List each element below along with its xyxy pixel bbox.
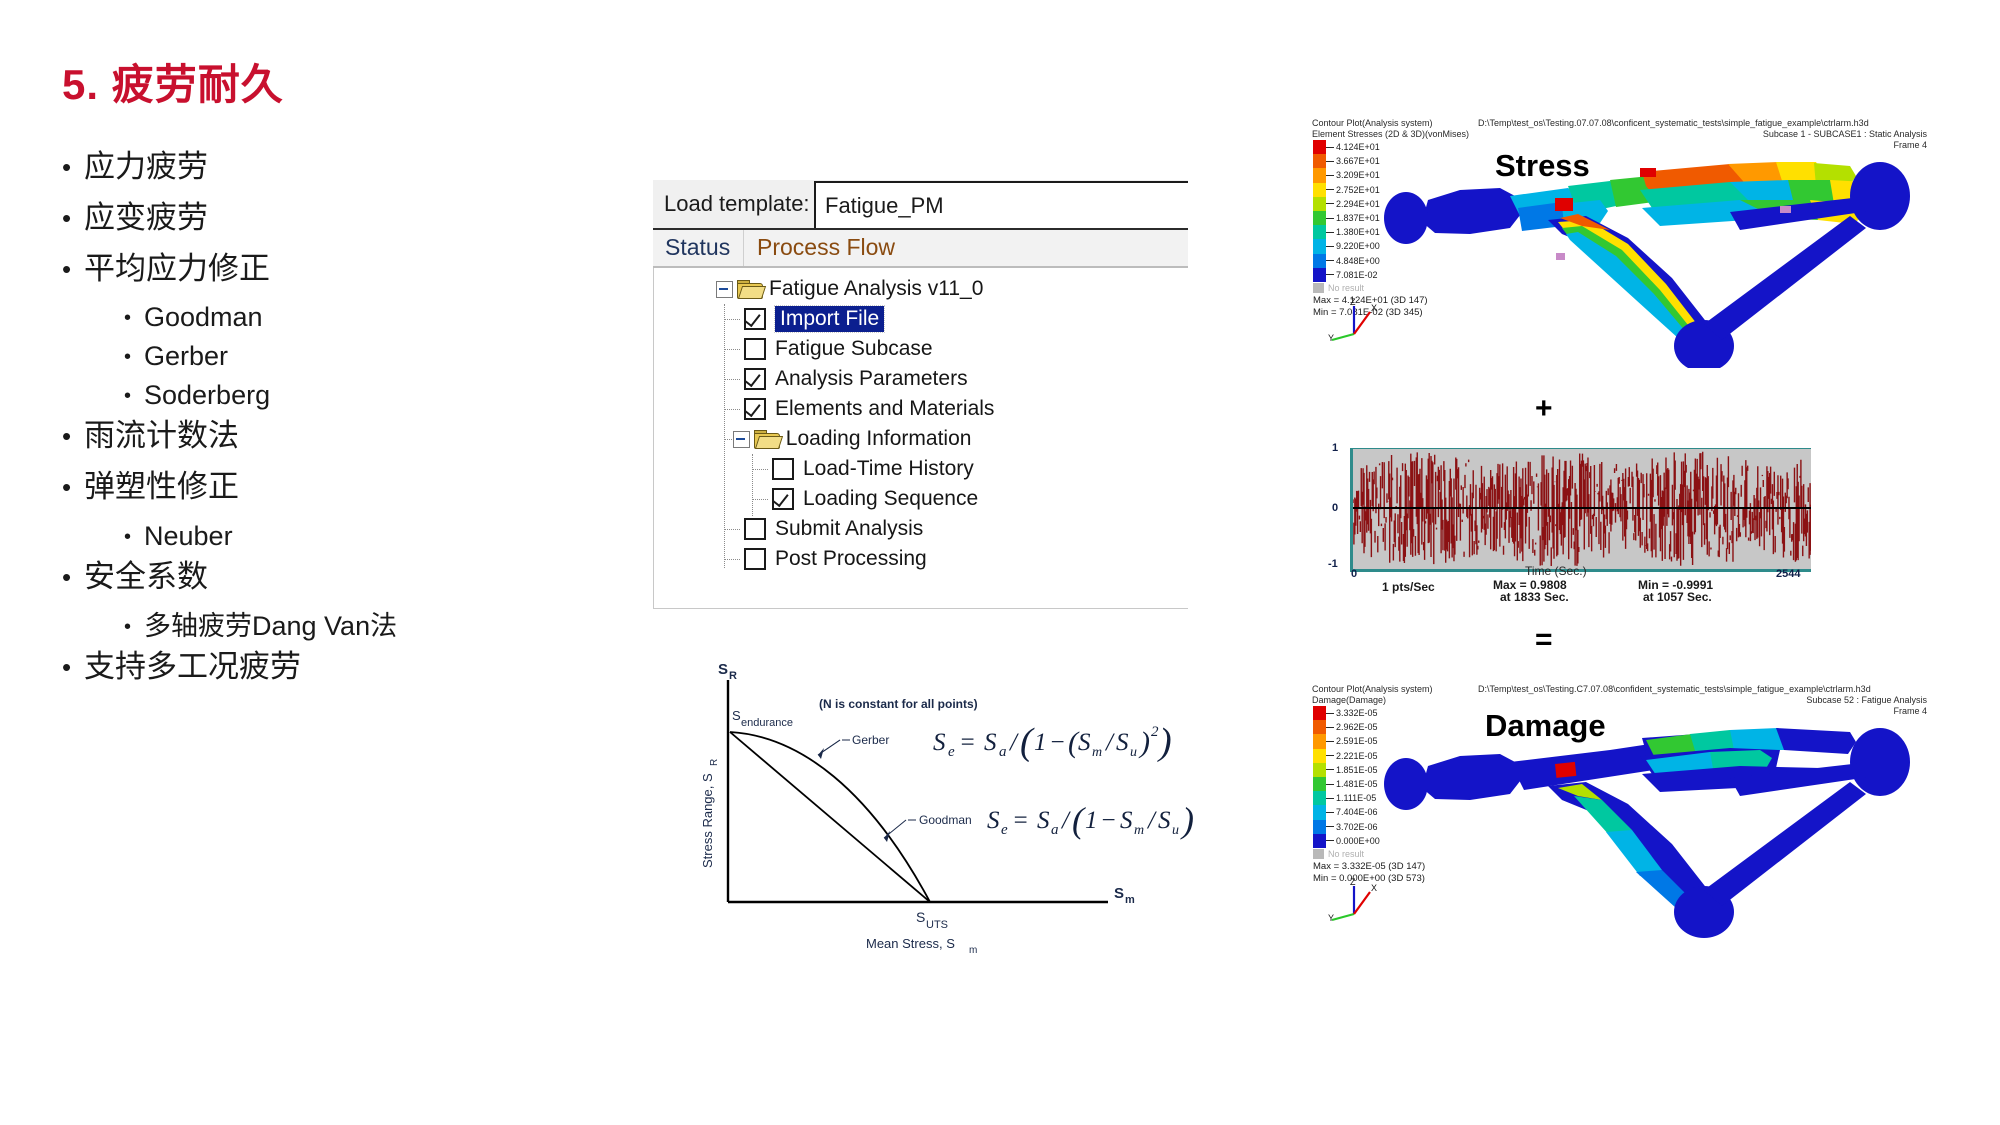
folder-open-icon xyxy=(737,280,762,299)
load-template-input[interactable]: Fatigue_PM xyxy=(814,181,1188,228)
svg-text:S: S xyxy=(933,729,946,756)
checkbox-unchecked-icon[interactable] xyxy=(744,338,766,360)
tree-connector xyxy=(752,469,768,470)
bullet-item: •雨流计数法 xyxy=(62,419,622,454)
uts-label: S xyxy=(916,909,925,925)
tree-item[interactable]: Post Processing xyxy=(744,544,927,574)
bullet-text: 安全系数 xyxy=(84,560,208,595)
tree-item[interactable]: Import File xyxy=(744,304,884,334)
svg-text:u: u xyxy=(1172,823,1179,838)
svg-text:Z: Z xyxy=(1350,297,1356,307)
tree-item-label: Import File xyxy=(775,306,884,332)
svg-text:/: / xyxy=(1008,729,1019,756)
svg-text:u: u xyxy=(1130,745,1137,760)
svg-text:X: X xyxy=(1371,303,1377,313)
bullet-item: •多轴疲劳Dang Van法 xyxy=(62,611,622,642)
tree-connector xyxy=(752,454,753,516)
svg-text:/: / xyxy=(1104,729,1115,756)
bullet-dot-icon: • xyxy=(62,419,84,449)
bullet-text: 弹塑性修正 xyxy=(84,470,239,505)
bullet-dot-icon: • xyxy=(124,521,144,547)
checkbox-checked-icon[interactable] xyxy=(744,308,766,330)
tree-item[interactable]: Analysis Parameters xyxy=(744,364,968,394)
th-x-right: 2544 xyxy=(1776,568,1800,580)
x-axis-symbol: S xyxy=(1114,885,1124,902)
bullet-dot-icon: • xyxy=(62,201,84,231)
endurance-label: S xyxy=(732,708,741,723)
svg-text:S: S xyxy=(1078,729,1091,756)
goodman-diagram-svg: S R S endurance (N is constant for all p… xyxy=(690,650,1270,970)
tree-item-label: Fatigue Subcase xyxy=(775,337,933,361)
bullet-item: •平均应力修正 xyxy=(62,252,622,287)
th-signal xyxy=(1353,449,1811,569)
y-axis-symbol-sub: R xyxy=(729,670,737,682)
checkbox-checked-icon[interactable] xyxy=(744,368,766,390)
bullet-dot-icon: • xyxy=(62,252,84,282)
column-header-status: Status xyxy=(653,230,744,266)
bullet-text: Gerber xyxy=(144,341,228,372)
bullet-item: •安全系数 xyxy=(62,560,622,595)
svg-text:/: / xyxy=(1060,807,1071,834)
slide-left-column: 5. 疲劳耐久 •应力疲劳•应变疲劳•平均应力修正•Goodman•Gerber… xyxy=(62,62,622,700)
load-time-history-chart: 1 0 -1 0 Time (Sec.) 2544 1 pts/Sec Max … xyxy=(1310,440,1825,595)
stress-contour-plot: Contour Plot(Analysis system) Element St… xyxy=(1310,118,1930,368)
tree-connector xyxy=(724,349,740,350)
bullet-dot-icon: • xyxy=(62,650,84,680)
tree-item[interactable]: Fatigue Analysis v11_0 xyxy=(716,274,983,304)
x-axis-symbol-sub: m xyxy=(1125,894,1135,906)
tree-connector xyxy=(724,439,732,440)
bullet-text: Neuber xyxy=(144,521,233,552)
bullet-item: •弹塑性修正 xyxy=(62,470,622,505)
bullet-dot-icon: • xyxy=(62,150,84,180)
svg-text:S: S xyxy=(1037,807,1050,834)
svg-text:): ) xyxy=(1157,721,1172,763)
goodman-curve-label: Goodman xyxy=(919,813,972,827)
gerber-curve-label: Gerber xyxy=(852,733,889,747)
bullet-item: •Goodman xyxy=(62,302,622,333)
th-max-at: at 1833 Sec. xyxy=(1500,590,1569,604)
th-y-mid: 0 xyxy=(1332,502,1338,514)
plus-operator: + xyxy=(1535,392,1553,426)
tree-item-label: Elements and Materials xyxy=(775,397,994,421)
bullet-dot-icon: • xyxy=(124,611,144,637)
th-y-bottom: -1 xyxy=(1328,558,1338,570)
svg-text:(: ( xyxy=(1020,721,1035,763)
tree-item[interactable]: Fatigue Subcase xyxy=(744,334,933,364)
endurance-label-sub: endurance xyxy=(741,717,793,729)
svg-text:a: a xyxy=(999,744,1007,760)
tree-item-label: Post Processing xyxy=(775,547,927,571)
svg-text:2: 2 xyxy=(1151,724,1159,740)
tree-item-label: Loading Sequence xyxy=(803,487,978,511)
bullet-item: •Gerber xyxy=(62,341,622,372)
tree-item[interactable]: Loading Sequence xyxy=(772,484,978,514)
y-axis-title-sub: R xyxy=(709,759,720,766)
svg-text:/: / xyxy=(1146,807,1157,834)
tree-connector xyxy=(724,559,740,560)
bullet-dot-icon: • xyxy=(124,380,144,406)
tree-connector xyxy=(724,319,740,320)
th-zero-line xyxy=(1353,507,1811,509)
x-axis-title: Mean Stress, S xyxy=(866,936,955,951)
tree-item-label: Fatigue Analysis v11_0 xyxy=(769,277,983,301)
tree-item-label: Submit Analysis xyxy=(775,517,923,541)
svg-text:e: e xyxy=(1001,822,1008,838)
svg-text:S: S xyxy=(984,729,997,756)
load-template-label: Load template: xyxy=(653,180,814,228)
bullet-item: •Soderberg xyxy=(62,380,622,411)
th-plot-area xyxy=(1350,448,1811,572)
th-y-top: 1 xyxy=(1332,442,1338,454)
svg-text:−: − xyxy=(1049,729,1066,756)
expander-minus-icon[interactable] xyxy=(733,431,750,448)
bullet-text: Goodman xyxy=(144,302,263,333)
y-axis-symbol: S xyxy=(718,661,728,678)
goodman-gerber-diagram: S R S endurance (N is constant for all p… xyxy=(690,650,1270,970)
svg-text:m: m xyxy=(1092,745,1102,760)
page-title: 5. 疲劳耐久 xyxy=(62,62,622,108)
th-min-at: at 1057 Sec. xyxy=(1643,590,1712,604)
svg-text:1: 1 xyxy=(1085,807,1098,834)
y-axis-title: Stress Range, S xyxy=(700,773,715,868)
load-template-row: Load template: Fatigue_PM xyxy=(653,180,1188,230)
tree-item[interactable]: Elements and Materials xyxy=(744,394,994,424)
tree-item[interactable]: Load-Time History xyxy=(772,454,974,484)
process-flow-header: Status Process Flow xyxy=(653,230,1188,268)
svg-text:=: = xyxy=(1012,807,1029,834)
th-x-title: Time (Sec.) xyxy=(1525,564,1587,578)
bullet-text: 平均应力修正 xyxy=(84,252,270,287)
tree-connector xyxy=(724,529,740,530)
bullet-text: Soderberg xyxy=(144,380,270,411)
bullet-text: 应力疲劳 xyxy=(84,150,208,185)
damage-3d-model xyxy=(1310,684,1930,954)
process-flow-tree[interactable]: Fatigue Analysis v11_0Import FileFatigue… xyxy=(653,268,1188,609)
column-header-process-flow: Process Flow xyxy=(744,230,895,266)
svg-text:S: S xyxy=(1158,807,1171,834)
equals-operator: = xyxy=(1535,623,1553,657)
svg-text:m: m xyxy=(1134,823,1144,838)
bullet-list: •应力疲劳•应变疲劳•平均应力修正•Goodman•Gerber•Soderbe… xyxy=(62,150,622,684)
svg-text:S: S xyxy=(1116,729,1129,756)
chart-note: (N is constant for all points) xyxy=(819,697,978,711)
svg-text:(: ( xyxy=(1072,800,1086,840)
bullet-dot-icon: • xyxy=(124,341,144,367)
svg-text:=: = xyxy=(959,729,976,756)
gerber-formula: S e = S a / ( 1 − ( S m / S u ) 2 ) xyxy=(933,721,1172,763)
process-flow-panel: Load template: Fatigue_PM Status Process… xyxy=(653,180,1188,605)
tree-item-label: Loading Information xyxy=(786,427,972,451)
tree-item[interactable]: Loading Information xyxy=(733,424,972,454)
x-axis-title-sub: m xyxy=(969,945,977,956)
expander-minus-icon[interactable] xyxy=(716,281,733,298)
checkbox-checked-icon[interactable] xyxy=(772,488,794,510)
checkbox-unchecked-icon[interactable] xyxy=(772,458,794,480)
svg-text:e: e xyxy=(948,744,955,760)
folder-open-icon xyxy=(754,430,779,449)
goodman-formula: S e = S a / ( 1 − S m / S u ) xyxy=(987,800,1194,840)
stress-3d-model xyxy=(1310,118,1930,368)
svg-text:S: S xyxy=(1120,807,1133,834)
tree-connector xyxy=(724,409,740,410)
svg-text:a: a xyxy=(1051,822,1059,838)
bullet-item: •应力疲劳 xyxy=(62,150,622,185)
svg-text:): ) xyxy=(1180,800,1194,840)
tree-item-label: Analysis Parameters xyxy=(775,367,968,391)
tree-connector xyxy=(724,379,740,380)
svg-text:Y: Y xyxy=(1328,333,1334,342)
svg-text:−: − xyxy=(1100,807,1117,834)
bullet-text: 支持多工况疲劳 xyxy=(84,650,301,685)
svg-text:S: S xyxy=(987,807,1000,834)
bullet-item: •应变疲劳 xyxy=(62,201,622,236)
svg-text:Y: Y xyxy=(1328,913,1334,922)
tree-item[interactable]: Submit Analysis xyxy=(744,514,923,544)
th-x-left: 0 xyxy=(1351,568,1357,580)
th-rate-label: 1 pts/Sec xyxy=(1382,580,1435,594)
svg-text:Z: Z xyxy=(1350,877,1356,887)
bullet-item: •支持多工况疲劳 xyxy=(62,650,622,685)
damage-axis-triad-icon: Z Y X xyxy=(1328,874,1386,922)
checkbox-unchecked-icon[interactable] xyxy=(744,548,766,570)
tree-item-label: Load-Time History xyxy=(803,457,974,481)
bullet-dot-icon: • xyxy=(62,470,84,500)
uts-label-sub: UTS xyxy=(926,919,948,931)
svg-text:): ) xyxy=(1138,726,1150,759)
svg-text:X: X xyxy=(1371,883,1377,893)
bullet-dot-icon: • xyxy=(124,302,144,328)
bullet-text: 应变疲劳 xyxy=(84,201,208,236)
stress-axis-triad-icon: Z Y X xyxy=(1328,294,1386,342)
checkbox-checked-icon[interactable] xyxy=(744,398,766,420)
bullet-text: 雨流计数法 xyxy=(84,419,239,454)
damage-contour-plot: Contour Plot(Analysis system) Damage(Dam… xyxy=(1310,684,1930,954)
bullet-item: •Neuber xyxy=(62,521,622,552)
bullet-text: 多轴疲劳Dang Van法 xyxy=(144,611,397,642)
tree-connector xyxy=(752,499,768,500)
svg-text:1: 1 xyxy=(1034,729,1047,756)
bullet-dot-icon: • xyxy=(62,560,84,590)
checkbox-unchecked-icon[interactable] xyxy=(744,518,766,540)
